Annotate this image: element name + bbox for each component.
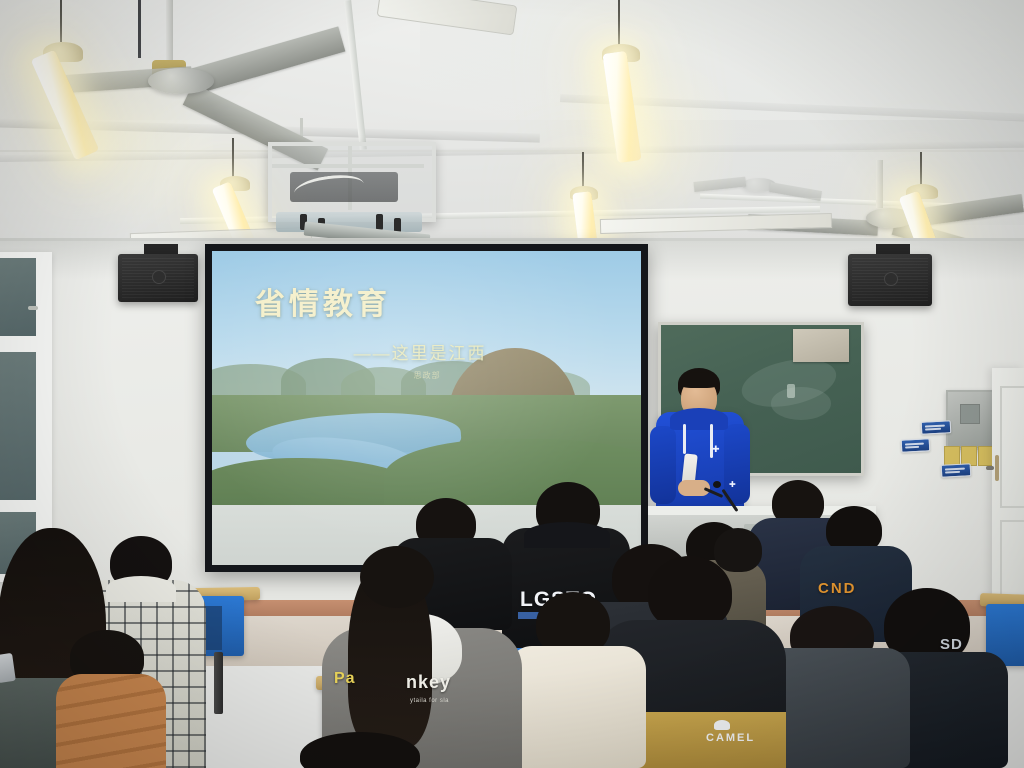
ceiling-light-3 (588, 40, 678, 170)
wall-speaker-left (118, 250, 198, 320)
sign-text-line (925, 428, 941, 431)
electrical-panel-window (960, 404, 980, 424)
board-paper-remnant (793, 329, 849, 362)
student-jacket-brand: CAMEL (706, 732, 755, 744)
student-head (714, 528, 762, 572)
microphone-head (713, 481, 721, 488)
board-chalk-mark (787, 384, 795, 398)
puffy-jacket (56, 674, 166, 768)
camel-logo-icon (714, 720, 730, 730)
ceiling-light-1 (30, 30, 160, 160)
hoodie-back-subtext: ytaila for sla (410, 698, 449, 704)
sign-text-line (945, 471, 960, 474)
speaker-cabinet (118, 254, 198, 302)
student-orange-jacket (46, 630, 176, 768)
presenter-sleeve-left (650, 426, 676, 504)
light-cord (232, 138, 234, 178)
fluorescent-tube (31, 49, 99, 160)
student-hood-collar (524, 522, 610, 548)
wall-speaker-right (848, 252, 932, 326)
speaker-driver (152, 270, 166, 284)
door-lock-plate[interactable] (995, 455, 999, 481)
window-mullion (0, 500, 48, 512)
speaker-cabinet (848, 254, 932, 306)
presenter-hood (670, 408, 728, 430)
presenter: ✚ ✚ (650, 368, 770, 528)
wall-sign-lower (941, 463, 972, 478)
sign-text-line (905, 446, 919, 449)
student-torso (508, 646, 646, 768)
light-cord (920, 152, 922, 186)
chalk-smudge (771, 387, 831, 420)
ceiling-fan-far (700, 166, 820, 208)
desk-leg (214, 652, 223, 714)
window-pane (0, 352, 36, 500)
presenter-hair-fringe (679, 372, 719, 388)
speaker-bracket (144, 244, 178, 254)
presenter-hood-cord (683, 424, 686, 454)
electrical-panel[interactable] (946, 390, 996, 450)
wall-ceiling-junction (0, 238, 1024, 241)
student-jacket-text: SD (940, 636, 963, 653)
fan-blade (769, 182, 822, 201)
door-panel (1000, 386, 1024, 508)
window-mullion (0, 338, 48, 350)
student-jacket-text: CND (818, 580, 857, 597)
light-cord (618, 0, 620, 46)
wall-sign-upper (921, 420, 952, 435)
fan-rod (876, 160, 883, 208)
light-cord (60, 0, 62, 42)
projector-mount-cage (264, 142, 436, 250)
wall-sign-middle (901, 438, 931, 452)
hoodie-back-text: nkey (406, 672, 451, 693)
fluorescent-tube (602, 51, 641, 163)
classroom-photo: 省情教育 ——这里是江西 思政部 ✚ ✚ (0, 0, 1024, 768)
window-pane (0, 258, 36, 336)
presenter-sleeve-logo: ✚ (729, 480, 736, 489)
presenter-sleeve-right (724, 424, 750, 504)
cage-foot (376, 214, 383, 230)
presenter-chest-logo: ✚ (712, 444, 720, 455)
window-latch[interactable] (28, 306, 38, 310)
student-head (648, 556, 732, 630)
hoodie-back-text-left: Pa (334, 670, 356, 688)
fan-blade (693, 177, 746, 192)
student-head (360, 546, 434, 608)
door-handle[interactable] (986, 466, 994, 470)
speaker-driver (884, 272, 898, 286)
light-cord (582, 152, 584, 188)
